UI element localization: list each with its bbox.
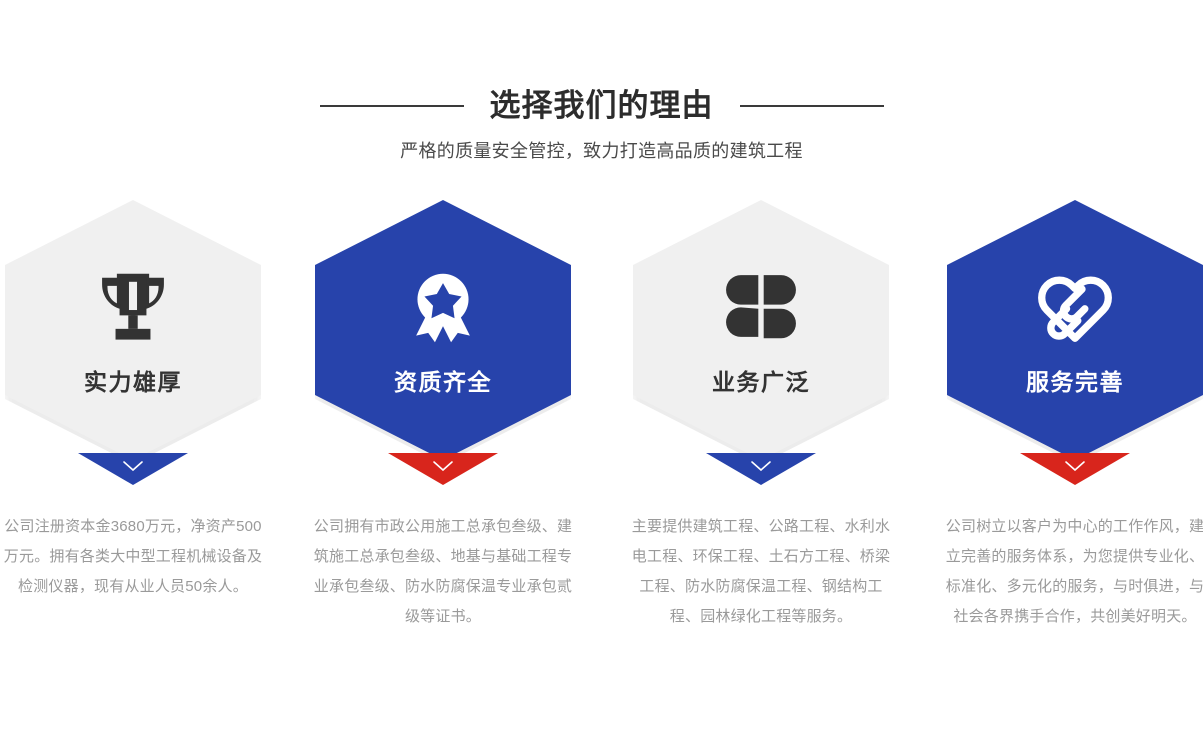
linked-heart-icon bbox=[1027, 258, 1123, 354]
hexagon-wrapper: 业务广泛 bbox=[628, 198, 894, 462]
card-description: 公司注册资本金3680万元，净资产500万元。拥有各类大中型工程机械设备及检测仪… bbox=[3, 512, 263, 602]
four-petal-clover-icon bbox=[713, 258, 809, 354]
hexagon-panel[interactable]: 实力雄厚 bbox=[5, 200, 261, 460]
trophy-icon bbox=[85, 258, 181, 354]
chevron-down-icon bbox=[122, 460, 144, 472]
feature-card[interactable]: 业务广泛 主要提供建筑工程、公路工程、水利水电工程、环保工程、土石方工程、桥梁工… bbox=[628, 198, 894, 698]
hexagon-wrapper: 实力雄厚 bbox=[0, 198, 266, 462]
hexagon-panel[interactable]: 资质齐全 bbox=[315, 200, 571, 460]
chevron-down-icon bbox=[432, 460, 454, 472]
page-subtitle: 严格的质量安全管控，致力打造高品质的建筑工程 bbox=[0, 138, 1203, 164]
card-title: 业务广泛 bbox=[712, 366, 810, 398]
card-title: 服务完善 bbox=[1026, 366, 1124, 398]
hexagon-panel[interactable]: 业务广泛 bbox=[633, 200, 889, 460]
feature-card[interactable]: 服务完善 公司树立以客户为中心的工作作风，建立完善的服务体系，为您提供专业化、标… bbox=[942, 198, 1203, 698]
title-row: 选择我们的理由 bbox=[0, 84, 1203, 128]
card-title: 资质齐全 bbox=[394, 366, 492, 398]
feature-card[interactable]: 资质齐全 公司拥有市政公用施工总承包叁级、建筑施工总承包叁级、地基与基础工程专业… bbox=[310, 198, 576, 698]
page-title: 选择我们的理由 bbox=[490, 84, 714, 128]
award-medal-icon bbox=[395, 258, 491, 354]
card-title: 实力雄厚 bbox=[84, 366, 182, 398]
hexagon-wrapper: 服务完善 bbox=[942, 198, 1203, 462]
card-description: 公司树立以客户为中心的工作作风，建立完善的服务体系，为您提供专业化、标准化、多元… bbox=[945, 512, 1203, 632]
title-rule-left bbox=[320, 105, 464, 107]
feature-card[interactable]: 实力雄厚 公司注册资本金3680万元，净资产500万元。拥有各类大中型工程机械设… bbox=[0, 198, 266, 698]
card-description: 公司拥有市政公用施工总承包叁级、建筑施工总承包叁级、地基与基础工程专业承包叁级、… bbox=[313, 512, 573, 632]
hexagon-panel[interactable]: 服务完善 bbox=[947, 200, 1203, 460]
hexagon-wrapper: 资质齐全 bbox=[310, 198, 576, 462]
feature-card-list: 实力雄厚 公司注册资本金3680万元，净资产500万元。拥有各类大中型工程机械设… bbox=[0, 198, 1203, 698]
card-description: 主要提供建筑工程、公路工程、水利水电工程、环保工程、土石方工程、桥梁工程、防水防… bbox=[631, 512, 891, 632]
section-header: 选择我们的理由 严格的质量安全管控，致力打造高品质的建筑工程 bbox=[0, 84, 1203, 164]
chevron-down-icon bbox=[1064, 460, 1086, 472]
title-rule-right bbox=[740, 105, 884, 107]
chevron-down-icon bbox=[750, 460, 772, 472]
